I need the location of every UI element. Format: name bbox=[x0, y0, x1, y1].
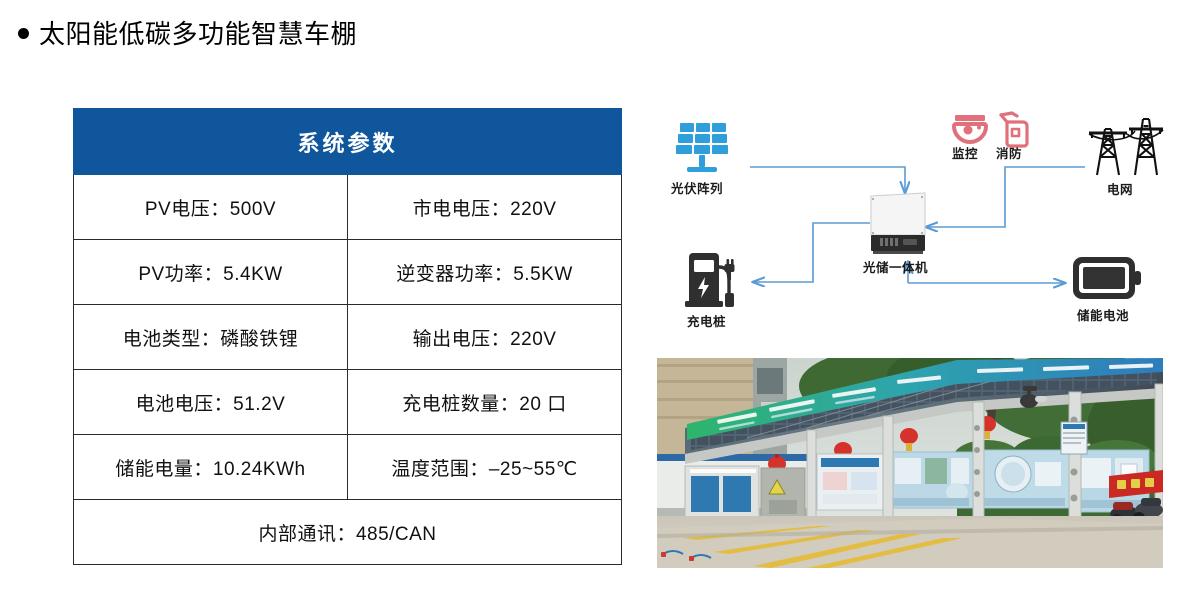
spec-cell-pv-voltage: PV电压：500V bbox=[74, 175, 348, 240]
spec-cell-grid-voltage: 市电电压：220V bbox=[348, 175, 622, 240]
table-row: 电池电压：51.2V 充电桩数量：20 口 bbox=[74, 370, 622, 435]
solar-carport-photo bbox=[657, 358, 1163, 568]
table-row: 储能电量：10.24KWh 温度范围：–25~55℃ bbox=[74, 435, 622, 500]
spec-cell-battery-voltage: 电池电压：51.2V bbox=[74, 370, 348, 435]
spec-cell-output-voltage: 输出电压：220V bbox=[348, 305, 622, 370]
diagram-label-fire: 消防 bbox=[996, 143, 1022, 162]
table-title-cell: 系统参数 bbox=[74, 109, 622, 175]
table-row: 电池类型：磷酸铁锂 输出电压：220V bbox=[74, 305, 622, 370]
page-title-text: 太阳能低碳多功能智慧车棚 bbox=[39, 14, 357, 51]
spec-cell-internal-comm: 内部通讯：485/CAN bbox=[74, 500, 622, 565]
fire-extinguisher-icon bbox=[1001, 113, 1027, 146]
diagram-label-inverter: 光储一体机 bbox=[863, 257, 928, 276]
battery-icon bbox=[1073, 257, 1141, 299]
flow-battery-to-inverter bbox=[908, 262, 1065, 283]
table-header-row: 系统参数 bbox=[74, 109, 622, 175]
table-row: PV功率：5.4KW 逆变器功率：5.5KW bbox=[74, 240, 622, 305]
power-pylon-icon bbox=[1089, 119, 1163, 175]
diagram-label-pv-array: 光伏阵列 bbox=[671, 178, 723, 197]
solar-panel-icon bbox=[676, 123, 728, 172]
spec-cell-charger-count: 充电桩数量：20 口 bbox=[348, 370, 622, 435]
table-row: 内部通讯：485/CAN bbox=[74, 500, 622, 565]
flow-inverter-to-charger bbox=[753, 223, 870, 282]
spec-cell-storage-capacity: 储能电量：10.24KWh bbox=[74, 435, 348, 500]
spec-cell-battery-type: 电池类型：磷酸铁锂 bbox=[74, 305, 348, 370]
spec-cell-temperature-range: 温度范围：–25~55℃ bbox=[348, 435, 622, 500]
hybrid-inverter-icon bbox=[871, 193, 925, 254]
ev-charging-pile-icon bbox=[685, 253, 735, 307]
spec-cell-inverter-power: 逆变器功率：5.5KW bbox=[348, 240, 622, 305]
table-body: PV电压：500V 市电电压：220V PV功率：5.4KW 逆变器功率：5.5… bbox=[74, 175, 622, 565]
spec-cell-pv-power: PV功率：5.4KW bbox=[74, 240, 348, 305]
system-architecture-diagram: 光伏阵列 监控 消防 电网 光储一体机 充电桩 储能电池 bbox=[655, 105, 1185, 340]
slide-page: 太阳能低碳多功能智慧车棚 系统参数 PV电压：500V 市电电压：220V PV… bbox=[0, 0, 1200, 605]
cctv-camera-icon bbox=[954, 115, 986, 142]
page-title: 太阳能低碳多功能智慧车棚 bbox=[18, 14, 357, 51]
filled-circle-bullet-icon bbox=[18, 28, 29, 39]
flow-grid-to-inverter bbox=[926, 167, 1085, 227]
diagram-label-grid: 电网 bbox=[1107, 179, 1133, 198]
system-parameters-table: 系统参数 PV电压：500V 市电电压：220V PV功率：5.4KW 逆变器功… bbox=[73, 108, 622, 565]
diagram-label-charger: 充电桩 bbox=[687, 311, 726, 330]
table-row: PV电压：500V 市电电压：220V bbox=[74, 175, 622, 240]
flow-pv-to-inverter bbox=[750, 167, 905, 193]
diagram-label-battery: 储能电池 bbox=[1077, 305, 1129, 324]
table-head: 系统参数 bbox=[74, 109, 622, 175]
diagram-label-monitoring: 监控 bbox=[952, 143, 978, 162]
